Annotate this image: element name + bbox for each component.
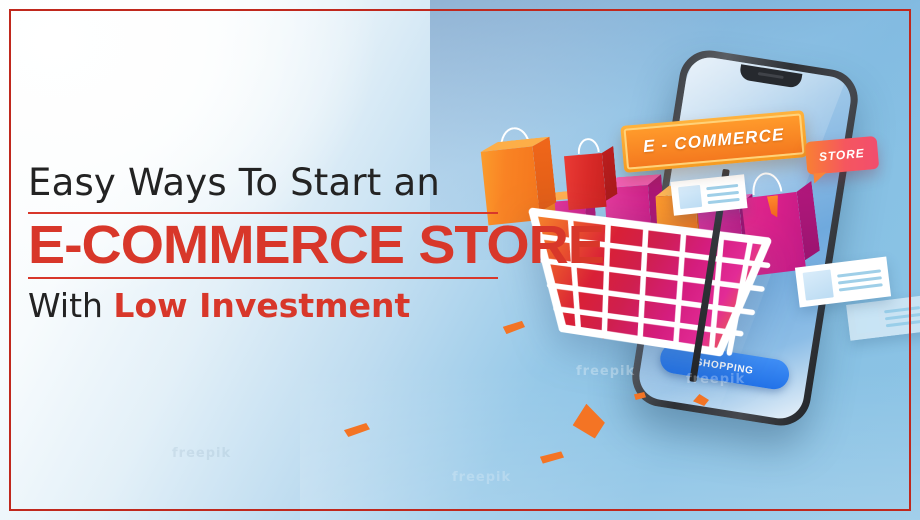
card-text-lines xyxy=(884,306,920,327)
headline-block: Easy Ways To Start an E-COMMERCE STORE W… xyxy=(28,164,498,324)
phone-speaker-icon xyxy=(758,72,784,79)
notification-card-right-back xyxy=(846,295,920,340)
headline-line-bottom: With Low Investment xyxy=(28,288,498,324)
store-badge-label: STORE xyxy=(818,146,865,164)
shopping-button-label: SHOPPING xyxy=(695,356,754,376)
card-text-lines xyxy=(837,269,883,291)
headline-divider-top xyxy=(28,212,498,214)
red-shopping-bag xyxy=(563,146,618,210)
background-sheen-bottom xyxy=(300,370,920,520)
headline-bottom-prefix: With xyxy=(28,286,113,325)
card-thumbnail-icon xyxy=(854,307,881,334)
watermark: freepik xyxy=(172,446,231,461)
ecommerce-badge-label: E - COMMERCE xyxy=(642,125,785,157)
card-thumbnail-icon xyxy=(678,185,702,209)
page-title: E-COMMERCE STORE xyxy=(28,218,512,273)
card-text-lines xyxy=(706,183,740,203)
bag-front-face xyxy=(564,153,607,210)
headline-divider-bottom xyxy=(28,277,498,279)
store-badge-tail-icon xyxy=(813,172,827,183)
store-badge: STORE xyxy=(805,136,879,175)
card-thumbnail-icon xyxy=(803,269,834,300)
headline-line-top: Easy Ways To Start an xyxy=(28,164,498,203)
ecommerce-banner: Easy Ways To Start an E-COMMERCE STORE W… xyxy=(0,0,920,520)
headline-bottom-accent: Low Investment xyxy=(113,286,410,325)
